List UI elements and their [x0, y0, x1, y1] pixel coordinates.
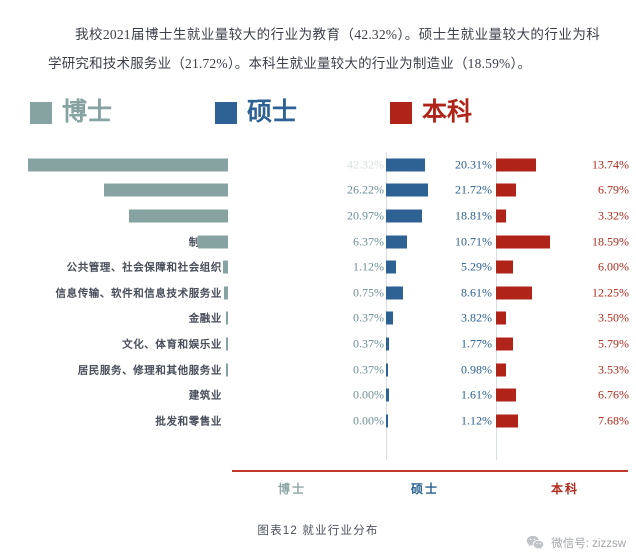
- value-label-bachelor: 6.76%: [559, 388, 629, 403]
- category-label: 制造业: [0, 234, 222, 249]
- bar-bachelor: [496, 337, 513, 350]
- value-label-master: 3.82%: [426, 311, 492, 326]
- bar-bachelor: [496, 184, 516, 197]
- bar-bachelor: [496, 261, 513, 274]
- bar-bachelor: [496, 312, 506, 325]
- value-label-master: 1.12%: [426, 413, 492, 428]
- axis-tick-doctoral: 博士: [252, 480, 332, 497]
- value-label-doctoral: 0.00%: [326, 413, 384, 428]
- legend-item-bachelor[interactable]: 本科: [390, 100, 472, 125]
- bar-bachelor: [496, 235, 550, 248]
- chart-row: 批发和零售业0.00%1.12%7.68%: [0, 408, 636, 434]
- bar-master: [386, 184, 428, 197]
- value-label-bachelor: 12.25%: [559, 285, 629, 300]
- value-label-bachelor: 3.50%: [559, 311, 629, 326]
- category-label: 信息传输、软件和信息技术服务业: [0, 285, 222, 300]
- value-label-bachelor: 7.68%: [559, 413, 629, 428]
- value-label-doctoral: 0.37%: [326, 311, 384, 326]
- legend-swatch-bachelor: [390, 102, 412, 124]
- bar-master: [386, 158, 425, 171]
- chart-row: 公共管理、社会保障和社会组织1.12%5.29%6.00%: [0, 254, 636, 280]
- value-label-doctoral: 1.12%: [326, 260, 384, 275]
- watermark: 微信号: zizzsw: [525, 533, 626, 553]
- axis-rule: [232, 470, 628, 472]
- category-label: 居民服务、修理和其他服务业: [0, 362, 222, 377]
- bar-master: [386, 209, 422, 222]
- legend-label-doctoral: 博士: [62, 100, 112, 125]
- bar-master: [386, 312, 393, 325]
- value-label-bachelor: 18.59%: [559, 234, 629, 249]
- category-label: 文化、体育和娱乐业: [0, 336, 222, 351]
- bar-bachelor: [496, 389, 516, 402]
- legend-swatch-doctoral: [30, 102, 52, 124]
- value-label-master: 8.61%: [426, 285, 492, 300]
- category-label: 公共管理、社会保障和社会组织: [0, 260, 222, 275]
- value-label-master: 20.31%: [426, 157, 492, 172]
- chart-row: 金融业0.37%3.82%3.50%: [0, 306, 636, 332]
- legend-item-doctoral[interactable]: 博士: [30, 100, 112, 125]
- chart-row: 文化、体育和娱乐业0.37%1.77%5.79%: [0, 331, 636, 357]
- value-label-master: 10.71%: [426, 234, 492, 249]
- value-label-bachelor: 13.74%: [559, 157, 629, 172]
- value-label-master: 1.61%: [426, 388, 492, 403]
- legend-label-bachelor: 本科: [422, 100, 472, 125]
- chart-row: 建筑业0.00%1.61%6.76%: [0, 382, 636, 408]
- bar-master: [386, 414, 388, 427]
- wechat-icon: [525, 533, 545, 553]
- value-label-bachelor: 6.79%: [559, 183, 629, 198]
- value-label-master: 5.29%: [426, 260, 492, 275]
- bar-bachelor: [496, 286, 532, 299]
- bar-master: [386, 337, 389, 350]
- value-label-bachelor: 3.53%: [559, 362, 629, 377]
- bar-master: [386, 389, 389, 402]
- legend-item-master[interactable]: 硕士: [215, 100, 297, 125]
- category-label: 批发和零售业: [0, 413, 222, 428]
- bar-bachelor: [496, 158, 536, 171]
- bar-bachelor: [496, 209, 506, 222]
- bar-master: [386, 286, 403, 299]
- value-label-doctoral: 0.00%: [326, 388, 384, 403]
- chart-row: 卫生和社会工作20.97%18.81%3.32%: [0, 203, 636, 229]
- chart-row: 制造业6.37%10.71%18.59%: [0, 229, 636, 255]
- bar-doctoral: [223, 261, 228, 274]
- value-label-doctoral: 0.37%: [326, 362, 384, 377]
- category-label: 建筑业: [0, 388, 222, 403]
- value-label-master: 18.81%: [426, 208, 492, 223]
- value-label-master: 1.77%: [426, 336, 492, 351]
- legend-label-master: 硕士: [247, 100, 297, 125]
- chart-legend: 博士 硕士 本科: [0, 96, 636, 140]
- bar-master: [386, 261, 396, 274]
- chart-row: 居民服务、修理和其他服务业0.37%0.98%3.53%: [0, 357, 636, 383]
- value-label-bachelor: 3.32%: [559, 208, 629, 223]
- bar-doctoral: [198, 235, 228, 248]
- value-label-master: 21.72%: [426, 183, 492, 198]
- value-label-doctoral: 6.37%: [326, 234, 384, 249]
- bar-doctoral: [226, 363, 228, 376]
- value-label-doctoral: 0.75%: [326, 285, 384, 300]
- bar-doctoral: [226, 337, 228, 350]
- intro-paragraph: 我校2021届博士生就业量较大的行业为教育（42.32%）。硕士生就业量较大的行…: [48, 20, 600, 78]
- value-label-doctoral: 42.32%: [326, 157, 384, 172]
- value-label-bachelor: 5.79%: [559, 336, 629, 351]
- bar-master: [386, 235, 407, 248]
- value-label-doctoral: 0.37%: [326, 336, 384, 351]
- category-label: 金融业: [0, 311, 222, 326]
- value-label-doctoral: 26.22%: [326, 183, 384, 198]
- chart-rows: 教育42.32%20.31%13.74%科学研究和技术服务业26.22%21.7…: [0, 152, 636, 434]
- watermark-text: 微信号: zizzsw: [551, 535, 626, 551]
- bar-doctoral: [129, 209, 228, 222]
- employment-industry-bar-chart: 教育42.32%20.31%13.74%科学研究和技术服务业26.22%21.7…: [0, 152, 636, 470]
- bar-master: [386, 363, 388, 376]
- axis-tick-bachelor: 本科: [525, 480, 605, 497]
- bar-doctoral: [226, 312, 228, 325]
- bar-doctoral: [104, 184, 228, 197]
- chart-row: 教育42.32%20.31%13.74%: [0, 152, 636, 178]
- legend-swatch-master: [215, 102, 237, 124]
- value-label-doctoral: 20.97%: [326, 208, 384, 223]
- axis-tick-master: 硕士: [385, 480, 465, 497]
- chart-bottom-axis: 博士 硕士 本科: [0, 470, 636, 510]
- bar-bachelor: [496, 414, 518, 427]
- chart-row: 信息传输、软件和信息技术服务业0.75%8.61%12.25%: [0, 280, 636, 306]
- bar-doctoral: [28, 158, 228, 171]
- value-label-bachelor: 6.00%: [559, 260, 629, 275]
- bar-doctoral: [224, 286, 228, 299]
- value-label-master: 0.98%: [426, 362, 492, 377]
- bar-bachelor: [496, 363, 506, 376]
- chart-row: 科学研究和技术服务业26.22%21.72%6.79%: [0, 178, 636, 204]
